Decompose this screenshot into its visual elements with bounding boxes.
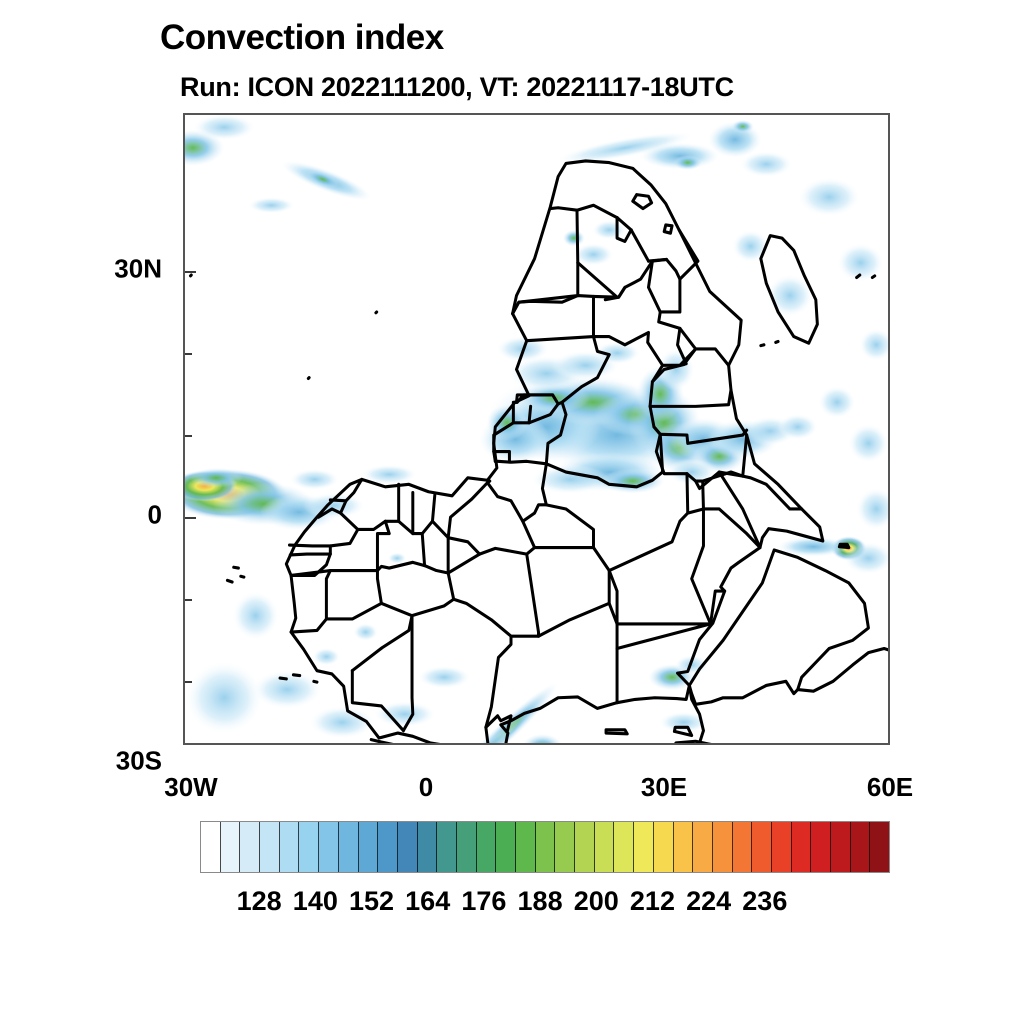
x-axis-label-0: 0 [419,772,433,803]
colorbar-swatch [240,822,260,872]
colorbar-swatch [260,822,280,872]
colorbar-swatch [870,822,889,872]
colorbar-swatch [654,822,674,872]
colorbar-swatch [634,822,654,872]
x-tick-inner-30w [185,113,187,115]
colorbar-swatch [201,822,221,872]
colorbar-swatch [674,822,694,872]
x-tick-inner-0 [421,113,423,115]
colorbar-swatch [299,822,319,872]
convection-field [185,115,888,743]
colorbar-tick-label: 224 [686,886,731,917]
x-axis-label-30w: 30W [164,772,217,803]
y-axis-label-30s: 30S [100,746,162,777]
y-tick-inner-10s [185,599,192,601]
y-tick-inner-0 [185,517,196,519]
colorbar-tick-label: 212 [630,886,675,917]
page-title: Convection index [160,18,444,58]
y-tick-inner-20s [185,681,192,683]
colorbar-tick-label: 200 [574,886,619,917]
colorbar-swatch [595,822,615,872]
colorbar-swatch [831,822,851,872]
colorbar-swatch [733,822,753,872]
colorbar-swatch [221,822,241,872]
map-plot-area [183,113,890,745]
colorbar-swatch [496,822,516,872]
colorbar-tick-label: 236 [742,886,787,917]
colorbar-swatch [437,822,457,872]
colorbar-swatch [752,822,772,872]
x-axis-label-60e: 60E [867,772,913,803]
colorbar-swatch [516,822,536,872]
colorbar-tick-label: 140 [293,886,338,917]
colorbar-tick-label: 164 [405,886,450,917]
colorbar-tick-label: 128 [237,886,282,917]
colorbar-tick-label: 152 [349,886,394,917]
colorbar-swatch [398,822,418,872]
x-tick-inner-30e [656,113,658,115]
y-tick-inner-30n [185,271,196,273]
y-tick-inner-10n [185,435,192,437]
x-tick-inner-60e [888,113,890,115]
colorbar-swatch [575,822,595,872]
colorbar-swatch [359,822,379,872]
colorbar [200,821,890,873]
colorbar-swatch [536,822,556,872]
colorbar-swatch [851,822,871,872]
map-canvas [185,115,888,743]
y-axis-label-0: 0 [100,500,162,531]
colorbar-swatch [555,822,575,872]
colorbar-swatch [477,822,497,872]
colorbar-tick-label: 188 [518,886,563,917]
colorbar-swatch [693,822,713,872]
colorbar-swatch [792,822,812,872]
colorbar-swatch [280,822,300,872]
colorbar-tick-label: 176 [461,886,506,917]
colorbar-swatch [418,822,438,872]
colorbar-swatch [614,822,634,872]
x-axis-label-30e: 30E [641,772,687,803]
colorbar-swatch [378,822,398,872]
colorbar-swatch [811,822,831,872]
y-axis-label-30n: 30N [100,254,162,285]
y-tick-inner-20n [185,353,192,355]
map-svg [185,115,888,743]
colorbar-swatch [319,822,339,872]
colorbar-swatch [339,822,359,872]
colorbar-swatch [457,822,477,872]
chart-subtitle: Run: ICON 2022111200, VT: 20221117-18UTC [180,72,734,103]
colorbar-swatch [713,822,733,872]
colorbar-swatch [772,822,792,872]
